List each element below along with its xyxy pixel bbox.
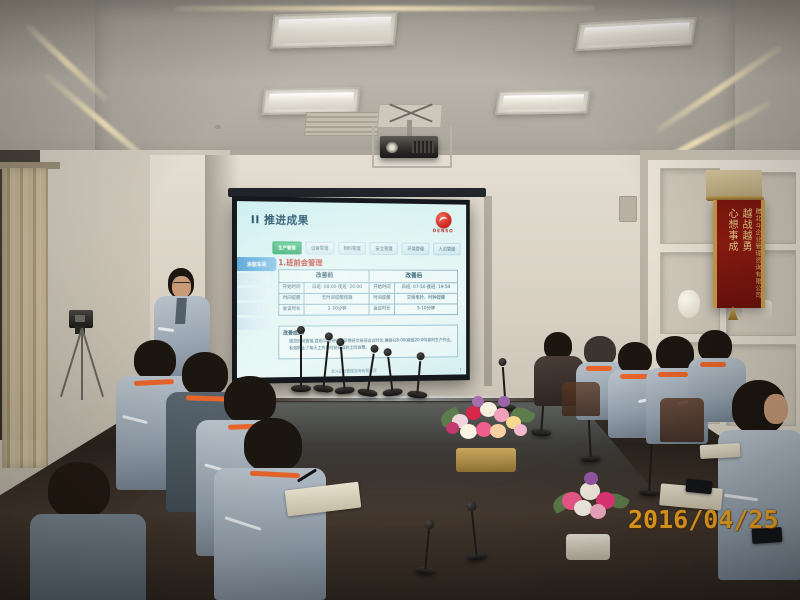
slide-side-tab: 涂装车间 [237, 257, 276, 271]
cell-after-value: 5-10分钟 [394, 304, 457, 315]
attendee-head [244, 418, 302, 472]
slide-footer: 北斗企业管理咨询有限公司 [237, 367, 466, 376]
window-curtain [2, 168, 48, 468]
ceiling-air-vent [304, 112, 381, 136]
side-stack-item [237, 318, 270, 330]
table-row: 时间提醒 无时间提醒措施 时间提醒 交接电铃、时钟提醒 [279, 293, 458, 304]
banner-column-1: 心想事成 [725, 208, 737, 252]
slide-tab-1: 设备管理 [305, 242, 334, 255]
table-row: 会议时长 2-30分钟 会议时长 5-10分钟 [279, 304, 458, 315]
projector-vents [412, 141, 434, 153]
flower [498, 396, 510, 407]
ceiling-projector [380, 136, 438, 158]
side-stack-item [237, 273, 270, 285]
table-header-after: 改善后 [370, 270, 458, 283]
cell-before-value: 白班: 08:00 夜班: 20:00 [304, 283, 369, 294]
smartphone [685, 479, 712, 495]
orange-collar [620, 374, 648, 379]
flower [574, 500, 592, 516]
attendee-uniform [30, 514, 146, 600]
slide-tab-row: 生产管理 设备管理 物料管理 安全管理 环境管理 人员管理 [272, 241, 460, 255]
smoke-detector-icon [214, 125, 221, 129]
tripod-leg [81, 328, 104, 397]
slide-page-number: 7 [459, 368, 461, 373]
attendee-left-foreground [30, 462, 146, 600]
slide-tab-0: 生产管理 [272, 241, 301, 254]
attendee-head [224, 376, 276, 424]
paper-sheet [700, 443, 741, 459]
projection-screen: II 推进成果 DENSO 生产管理 设备管理 物料管理 安全管理 环境管理 人… [232, 196, 470, 384]
cell-before-value: 2-30分钟 [304, 304, 369, 315]
presenter-face [172, 276, 191, 298]
comparison-table: 改善前 改善后 开始时间 白班: 08:00 夜班: 20:00 开始时间 白班… [278, 269, 458, 316]
cell-before-value: 无时间提醒措施 [304, 293, 369, 304]
slide-title: II 推进成果 [251, 211, 309, 228]
cove-light-top [175, 6, 595, 11]
flower [514, 424, 527, 436]
cell-after-label: 会议时长 [370, 304, 395, 315]
cell-after-value: 白班: 07:50 夜班: 19:50 [394, 283, 457, 294]
flower [466, 406, 481, 420]
flower [584, 472, 598, 485]
flower [446, 422, 459, 434]
cell-before-label: 会议时长 [279, 304, 305, 315]
meeting-room-photo: 心想事成 越战越勇 赠北斗企业管理咨询有限公司 II 推进成果 DENSO 生产… [0, 0, 800, 600]
cell-before-label: 时间提醒 [279, 293, 305, 304]
cell-after-label: 时间提醒 [370, 293, 395, 304]
camera-tripod [55, 310, 109, 400]
floral-centerpiece [432, 392, 540, 472]
cell-after-label: 开始时间 [370, 283, 395, 294]
flower-vase [566, 534, 610, 560]
glasses-icon [173, 282, 190, 287]
side-stack-item [237, 288, 270, 300]
wall-panel [706, 170, 762, 198]
floral-arrangement-front [548, 470, 634, 560]
screen-side-shadow [484, 196, 492, 386]
result-box: 改善成果: 规范时间管理,提前10分钟进行早晚班交接班会议时长,确保在8:00(… [278, 325, 458, 360]
slide-side-stack [237, 273, 270, 333]
cell-before-label: 开始时间 [279, 283, 305, 294]
orange-collar [658, 372, 688, 377]
camera-date-stamp: 2016/04/25 [628, 505, 779, 534]
flower-basket [456, 448, 516, 472]
slide-section-title: 1.班前会管理 [278, 257, 322, 268]
tripod-leg [81, 328, 83, 400]
slide-tab-5: 人员管理 [433, 243, 460, 256]
orange-collar [700, 362, 726, 367]
presentation-slide: II 推进成果 DENSO 生产管理 设备管理 物料管理 安全管理 环境管理 人… [237, 201, 466, 378]
flower [460, 424, 477, 439]
flower [590, 504, 606, 519]
attendee-head [48, 462, 110, 518]
flower [472, 396, 484, 407]
slide-tab-4: 环境管理 [402, 242, 430, 255]
banner-column-2: 越战越勇 [739, 208, 751, 252]
table-row: 开始时间 白班: 08:00 夜班: 20:00 开始时间 白班: 07:50 … [279, 283, 458, 294]
company-logo: DENSO [428, 212, 459, 235]
projector-lens-icon [386, 142, 398, 153]
tripod-leg [60, 328, 83, 397]
table-header-before: 改善前 [279, 270, 370, 283]
wall-speaker [619, 196, 637, 222]
ceiling-light-4 [495, 89, 591, 115]
screen-surface: II 推进成果 DENSO 生产管理 设备管理 物料管理 安全管理 环境管理 人… [237, 201, 466, 378]
ceiling-light-3 [262, 87, 361, 115]
chair [562, 382, 600, 416]
banner-column-3: 赠北斗企业管理咨询有限公司 [751, 208, 763, 299]
attendee-face [764, 394, 788, 424]
appreciation-banner: 心想事成 越战越勇 赠北斗企业管理咨询有限公司 [713, 200, 765, 308]
table-header-row: 改善前 改善后 [279, 270, 458, 283]
attendee-right-foreground [718, 380, 800, 580]
cell-after-value: 交接电铃、时钟提醒 [394, 293, 457, 304]
slide-tab-2: 物料管理 [338, 242, 366, 255]
slide-tab-3: 安全管理 [370, 242, 398, 255]
chair [660, 398, 704, 442]
logo-text: DENSO [428, 229, 459, 234]
decorative-vase [678, 290, 700, 318]
logo-mark-icon [435, 212, 451, 229]
side-stack-item [237, 303, 270, 315]
flower [490, 424, 506, 438]
ceiling-light-1 [270, 11, 398, 48]
presenter-collar [175, 298, 187, 324]
